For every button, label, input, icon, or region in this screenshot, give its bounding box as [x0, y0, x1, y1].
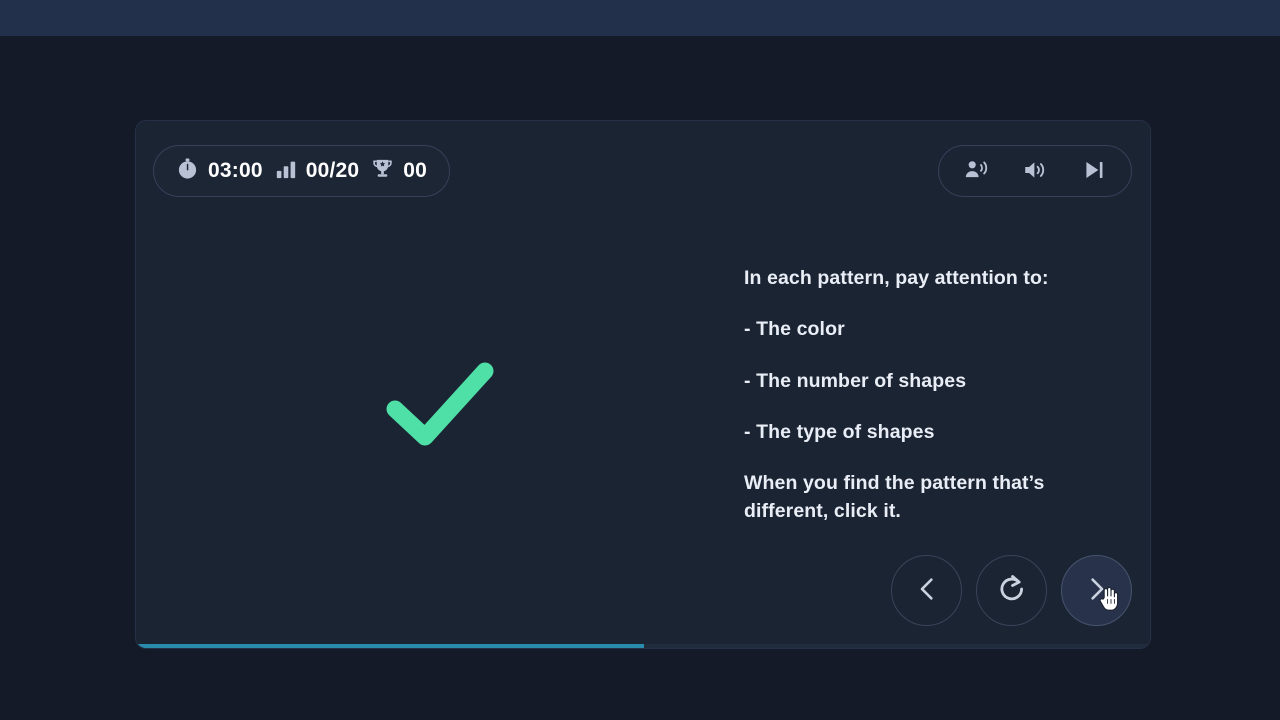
instruction-intro: In each pattern, pay attention to:	[744, 264, 1134, 292]
narration-icon	[963, 157, 989, 186]
trophy-value: 00	[403, 159, 427, 183]
restart-icon	[996, 573, 1028, 608]
progress-bar-track	[136, 644, 1151, 648]
stopwatch-icon	[176, 157, 199, 185]
instruction-bullet-type: - The type of shapes	[744, 418, 1134, 446]
stats-pill: 03:00 00/20	[153, 145, 450, 197]
top-app-bar	[0, 0, 1280, 36]
next-button[interactable]	[1061, 555, 1132, 626]
chevron-left-icon	[912, 574, 942, 607]
checkmark-icon	[385, 359, 495, 454]
skip-forward-icon	[1081, 157, 1107, 186]
exercise-card: 03:00 00/20	[135, 120, 1151, 649]
skip-forward-button[interactable]	[1077, 154, 1111, 188]
media-controls-pill	[938, 145, 1132, 197]
instruction-outro: When you find the pattern that’s differe…	[744, 469, 1134, 526]
instruction-bullet-color: - The color	[744, 315, 1134, 343]
timer-stat: 03:00	[176, 157, 263, 185]
instruction-list: In each pattern, pay attention to: - The…	[744, 264, 1134, 526]
bar-chart-icon	[275, 158, 297, 185]
score-value: 00/20	[306, 159, 360, 183]
navigation-buttons	[891, 555, 1132, 626]
progress-bar-fill	[136, 644, 644, 648]
chevron-right-icon	[1082, 574, 1112, 607]
score-stat: 00/20	[275, 158, 360, 185]
volume-button[interactable]	[1018, 154, 1052, 188]
volume-icon	[1022, 157, 1048, 186]
trophy-icon	[371, 157, 394, 185]
previous-button[interactable]	[891, 555, 962, 626]
trophy-stat: 00	[371, 157, 427, 185]
narration-button[interactable]	[959, 154, 993, 188]
feedback-pane	[136, 216, 744, 616]
timer-value: 03:00	[208, 159, 263, 183]
instruction-bullet-number: - The number of shapes	[744, 367, 1134, 395]
restart-button[interactable]	[976, 555, 1047, 626]
